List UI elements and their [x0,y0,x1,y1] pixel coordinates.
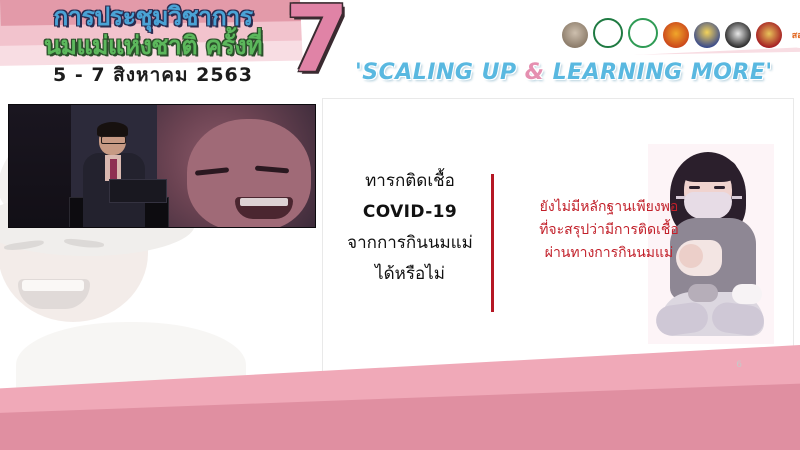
logo-department-health [628,18,658,48]
answer-line-2: ที่จะสรุปว่ามีการติดเชื้อ [500,219,718,242]
illustration-eye-right [714,186,725,189]
conference-date: 5 - 7 สิงหาคม 2563 [18,60,288,90]
illustration-hand [688,284,718,302]
conference-title-line-1: การประชุมวิชาการ [18,2,288,31]
logo-ministry-public-health [593,18,623,48]
question-line-3: จากการกินนมแม่ [330,228,490,259]
question-line-4: ได้หรือไม่ [330,259,490,290]
slide-number: 6 [736,360,742,370]
illustration-foot [732,284,762,304]
edition-number: 7 [285,0,349,86]
illustration-hair-fringe [680,156,737,182]
slide-content-area: ทารกติดเชื้อ COVID-19 จากการกินนมแม่ ได้… [0,96,800,450]
sponsor-logo-strip: สสส [562,18,800,48]
video-baby-teeth [240,198,288,206]
question-line-1: ทารกติดเชื้อ [330,166,490,197]
logo-thai-pediatric-society [663,22,689,48]
logo-nursing-council [725,22,751,48]
tagline-ampersand: & [525,60,545,85]
conference-header-banner: การประชุมวิชาการ นมแม่แห่งชาติ ครั้งที่ … [0,0,800,96]
logo-royal-college [694,22,720,48]
video-laptop [109,179,167,203]
video-speaker-glasses [101,136,126,144]
answer-line-3: ผ่านทางการกินนมแม่ [500,242,718,265]
illustration-eye-left [689,186,700,189]
red-vertical-divider [491,174,494,312]
tagline-text-part-1: 'SCALING UP [355,60,525,85]
conference-title: การประชุมวิชาการ นมแม่แห่งชาติ ครั้งที่ [18,2,288,60]
conference-title-line-2: นมแม่แห่งชาติ ครั้งที่ [18,31,288,60]
tagline-text-part-2: LEARNING MORE' [544,60,772,85]
conference-tagline: 'SCALING UP & LEARNING MORE' [355,60,773,85]
video-speaker-hair [97,122,128,137]
logo-thai-health-sss: สสส [787,22,800,48]
presentation-slide-screenshot: การประชุมวิชาการ นมแม่แห่งชาติ ครั้งที่ … [0,0,800,450]
logo-thai-red-cross [756,22,782,48]
illustration-mask-strap-right [732,196,742,199]
logo-sss-label: สสส [792,28,800,42]
question-line-2: COVID-19 [330,197,490,228]
speaker-at-podium-video[interactable] [8,104,316,228]
question-text-block: ทารกติดเชื้อ COVID-19 จากการกินนมแม่ ได้… [330,166,490,290]
answer-text-block: ยังไม่มีหลักฐานเพียงพอ ที่จะสรุปว่ามีการ… [500,196,718,265]
video-speaker-tie [110,159,117,181]
watermark-teeth [22,280,84,291]
answer-line-1: ยังไม่มีหลักฐานเพียงพอ [500,196,718,219]
logo-royal-seal [562,22,588,48]
